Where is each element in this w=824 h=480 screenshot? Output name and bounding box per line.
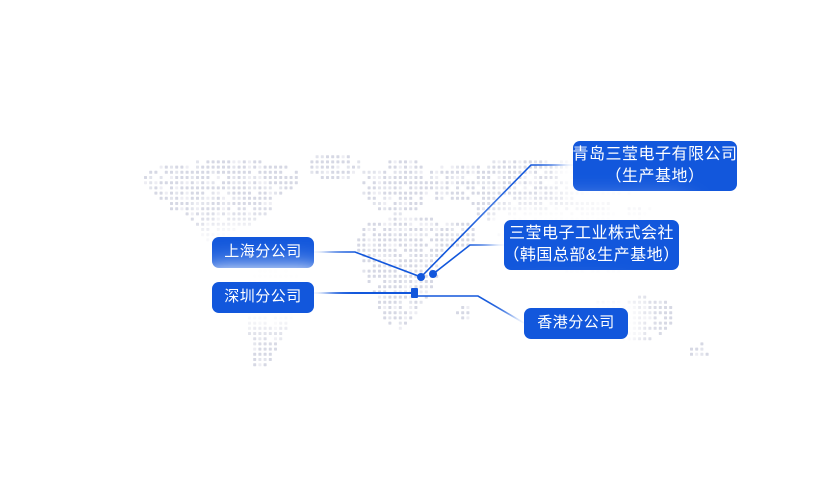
label-shanghai[interactable]: 上海分公司 bbox=[212, 237, 314, 268]
label-qingdao-line2: （生产基地） bbox=[605, 166, 704, 188]
label-korea-hq-line1: 三莹电子工业株式会社 bbox=[509, 223, 674, 245]
shenzhen-hongkong-marker[interactable] bbox=[411, 288, 418, 298]
world-map-infographic: 青岛三莹电子有限公司 （生产基地） 三莹电子工业株式会社 （韩国总部&生产基地）… bbox=[0, 0, 824, 480]
label-shenzhen-line1: 深圳分公司 bbox=[224, 287, 302, 308]
korea-marker[interactable] bbox=[429, 270, 437, 278]
label-qingdao[interactable]: 青岛三莹电子有限公司 （生产基地） bbox=[573, 141, 737, 191]
label-hongkong-line1: 香港分公司 bbox=[537, 313, 615, 334]
qingdao-marker[interactable] bbox=[417, 273, 425, 281]
label-qingdao-line1: 青岛三莹电子有限公司 bbox=[573, 144, 738, 166]
label-korea-hq-line2: （韩国总部&生产基地） bbox=[503, 245, 679, 267]
label-shanghai-line1: 上海分公司 bbox=[224, 242, 302, 263]
dotted-world-map bbox=[0, 0, 824, 480]
label-korea-hq[interactable]: 三莹电子工业株式会社 （韩国总部&生产基地） bbox=[504, 220, 679, 270]
label-hongkong[interactable]: 香港分公司 bbox=[524, 308, 628, 339]
label-shenzhen[interactable]: 深圳分公司 bbox=[212, 282, 314, 313]
